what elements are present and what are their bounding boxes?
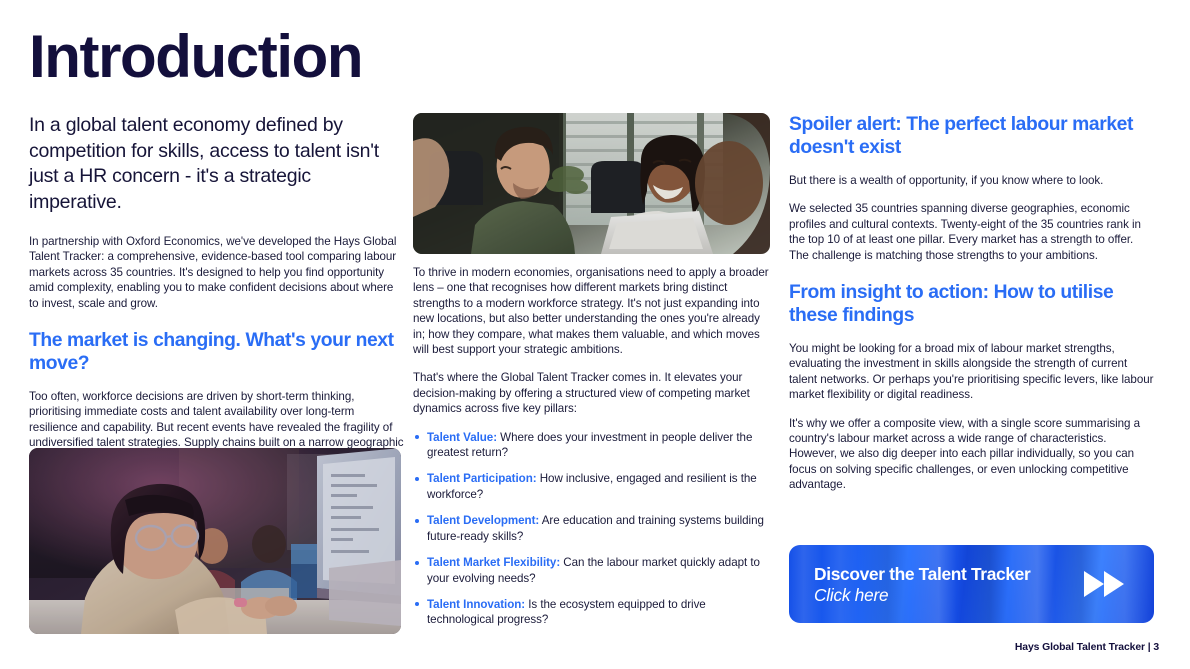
right-column: Spoiler alert: The perfect labour market… [789,113,1154,506]
middle-paragraph-1: To thrive in modern economies, organisat… [413,265,769,357]
list-item: Talent Market Flexibility: Can the labou… [413,555,769,586]
cta-title: Discover the Talent Tracker [814,564,1030,585]
list-item: Talent Innovation: Is the ecosystem equi… [413,597,769,628]
list-item: Talent Value: Where does your investment… [413,430,769,461]
page-root: Introduction In a global talent economy … [0,0,1190,669]
footer-page-label: Hays Global Talent Tracker | 3 [1015,642,1159,653]
right-paragraph-1: But there is a wealth of opportunity, if… [789,173,1154,188]
right-section-heading-1: Spoiler alert: The perfect labour market… [789,113,1154,159]
office-worker-photo-illustration [29,448,401,634]
right-paragraph-3: You might be looking for a broad mix of … [789,341,1154,403]
pillar-name: Talent Value: [427,431,497,444]
office-worker-photo [29,448,401,634]
middle-column: To thrive in modern economies, organisat… [413,265,769,639]
pillar-name: Talent Development: [427,514,539,527]
cta-text-block: Discover the Talent Tracker Click here [814,564,1030,606]
pillars-list: Talent Value: Where does your investment… [413,430,769,628]
right-paragraph-2: We selected 35 countries spanning divers… [789,201,1154,263]
colleagues-laptop-photo [413,113,770,254]
double-chevron-right-icon [1082,569,1126,599]
intro-lead-paragraph: In a global talent economy defined by co… [29,113,404,215]
middle-paragraph-2: That's where the Global Talent Tracker c… [413,370,769,416]
pillar-name: Talent Innovation: [427,598,525,611]
list-item: Talent Participation: How inclusive, eng… [413,471,769,502]
left-column: In a global talent economy defined by co… [29,113,404,479]
cta-subtitle: Click here [814,585,1030,606]
list-item: Talent Development: Are education and tr… [413,513,769,544]
left-section-heading: The market is changing. What's your next… [29,329,404,375]
right-paragraph-4: It's why we offer a composite view, with… [789,416,1154,493]
pillar-name: Talent Participation: [427,472,537,485]
page-title: Introduction [29,24,362,90]
right-section-heading-2: From insight to action: How to utilise t… [789,281,1154,327]
pillar-name: Talent Market Flexibility: [427,556,560,569]
left-paragraph-1: In partnership with Oxford Economics, we… [29,234,404,311]
double-chevron-right-icon-svg [1082,569,1126,599]
discover-talent-tracker-button[interactable]: Discover the Talent Tracker Click here [789,545,1154,623]
colleagues-laptop-photo-illustration [413,113,770,254]
